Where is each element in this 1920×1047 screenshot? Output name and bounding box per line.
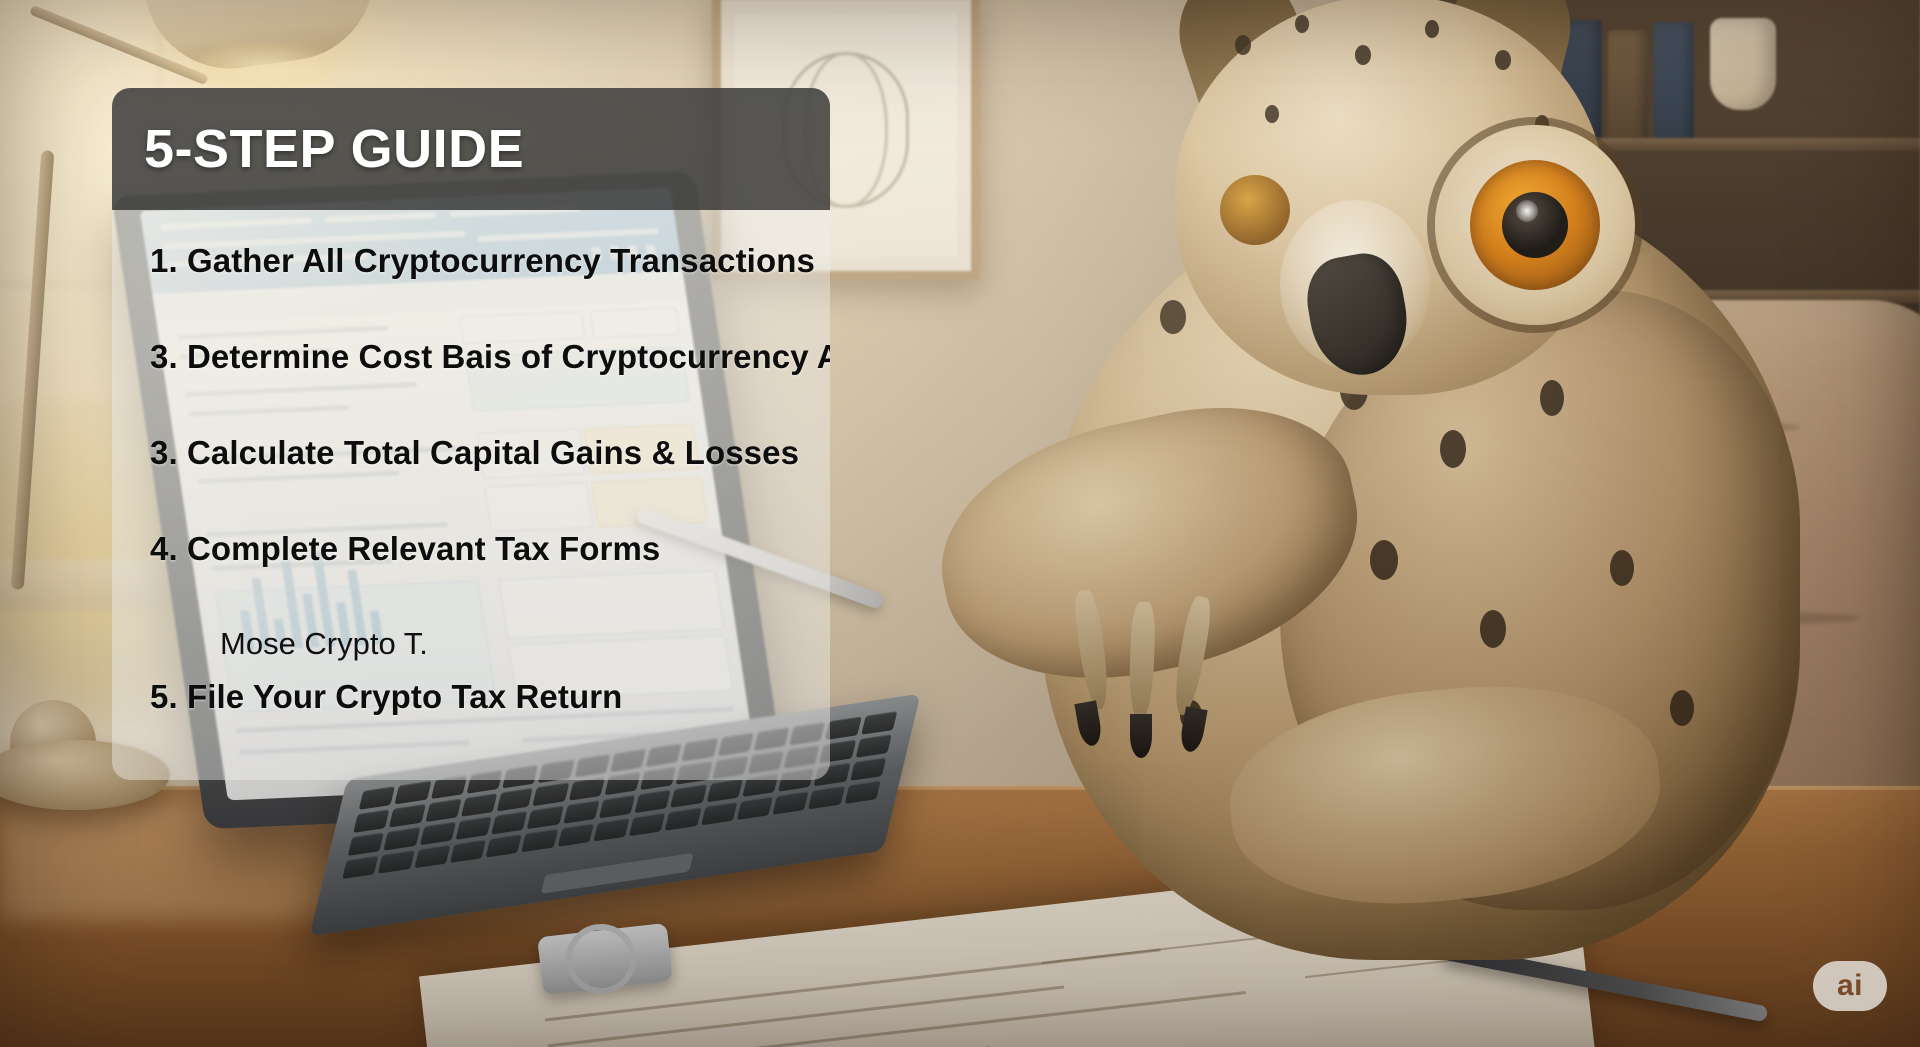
guide-header-band: 5-STEP GUIDE (112, 88, 830, 210)
page-title: 5-STEP GUIDE (144, 118, 524, 180)
screenshot-root: 5-STEP GUIDE 1. Gather All Cryptocurrenc… (0, 0, 1920, 1047)
ai-watermark-label: ai (1837, 971, 1863, 1001)
list-item: 4. Complete Relevant Tax Forms (150, 530, 660, 568)
guide-overlay-panel: 5-STEP GUIDE 1. Gather All Cryptocurrenc… (112, 88, 830, 780)
stray-text: Mose Crypto T. (220, 626, 428, 662)
owl-eye-left (1220, 175, 1290, 245)
owl-pupil (1502, 192, 1568, 258)
guide-step-list: 1. Gather All Cryptocurrency Transaction… (112, 210, 830, 780)
lamp-bulb-glow (195, 44, 335, 90)
list-item: 5. File Your Crypto Tax Return (150, 678, 622, 716)
owl (980, 0, 1860, 950)
list-item: 3. Calculate Total Capital Gains & Losse… (150, 434, 799, 472)
owl-eye-highlight (1516, 200, 1538, 222)
list-item: 1. Gather All Cryptocurrency Transaction… (150, 242, 815, 280)
owl-claw (1130, 714, 1152, 758)
list-item: 3. Determine Cost Bais of Cryptocurrency… (150, 338, 830, 376)
ai-watermark-badge: ai (1813, 961, 1887, 1011)
